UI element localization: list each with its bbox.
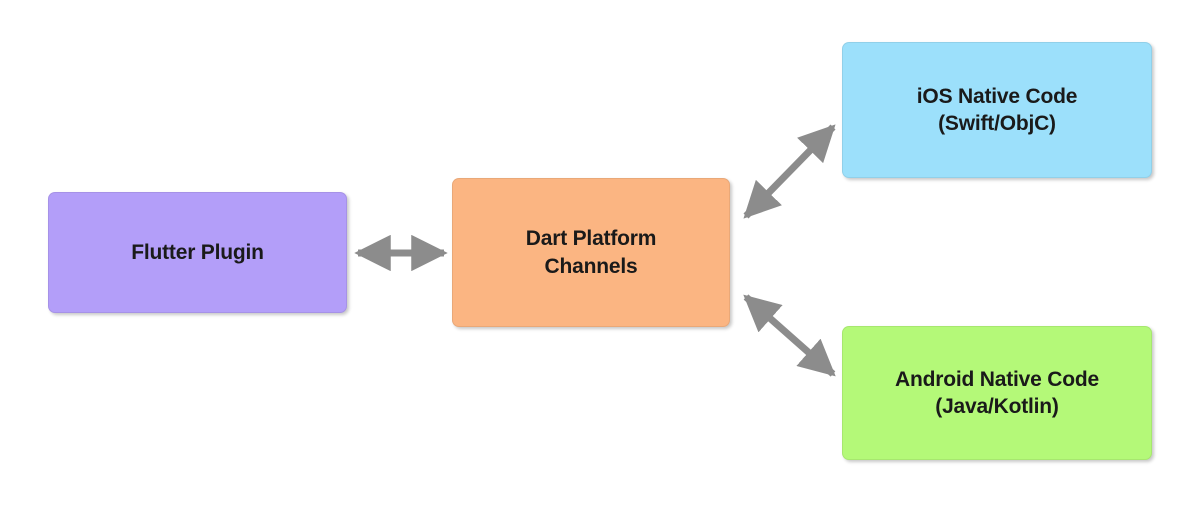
- node-dart-platform-channels-label: Dart Platform Channels: [518, 225, 664, 280]
- node-dart-platform-channels[interactable]: Dart Platform Channels: [452, 178, 730, 327]
- connector-channels-to-android[interactable]: [746, 297, 833, 374]
- node-ios-native-code[interactable]: iOS Native Code (Swift/ObjC): [842, 42, 1152, 178]
- node-android-native-code[interactable]: Android Native Code (Java/Kotlin): [842, 326, 1152, 460]
- node-ios-native-code-label: iOS Native Code (Swift/ObjC): [909, 83, 1085, 138]
- node-android-native-code-label: Android Native Code (Java/Kotlin): [887, 366, 1107, 421]
- connector-channels-to-ios[interactable]: [746, 127, 833, 216]
- node-flutter-plugin[interactable]: Flutter Plugin: [48, 192, 347, 313]
- diagram-canvas: Flutter Plugin Dart Platform Channels iO…: [0, 0, 1200, 510]
- node-flutter-plugin-label: Flutter Plugin: [123, 239, 272, 266]
